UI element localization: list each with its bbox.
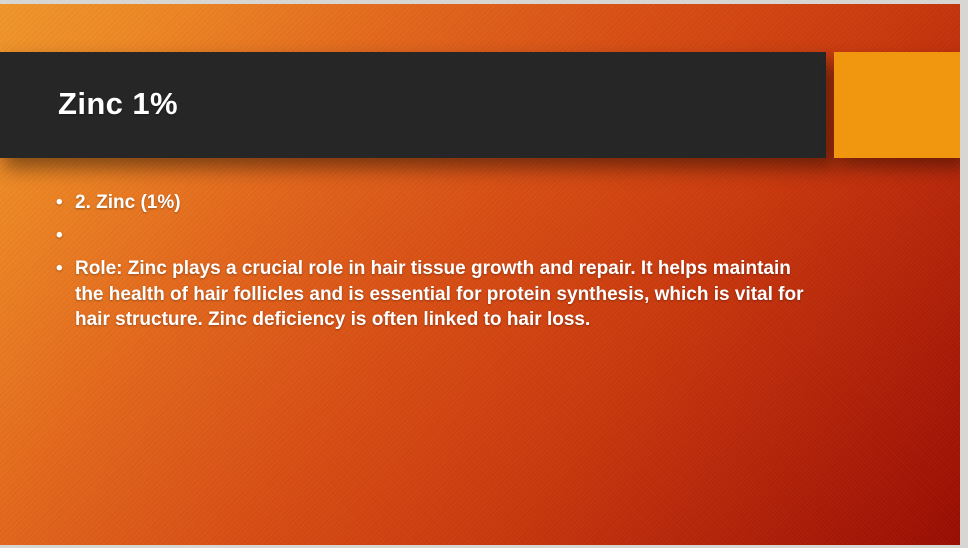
title-band: Zinc 1% (0, 52, 826, 158)
bullet-icon: • (56, 190, 75, 216)
list-item: • (56, 223, 846, 249)
accent-block (834, 52, 960, 158)
bullet-icon: • (56, 223, 75, 249)
list-item: • 2. Zinc (1%) (56, 190, 846, 216)
list-item-text: 2. Zinc (1%) (75, 190, 846, 216)
page-title: Zinc 1% (58, 86, 178, 122)
list-item-text: Role: Zinc plays a crucial role in hair … (75, 256, 817, 333)
slide-canvas: Zinc 1% • 2. Zinc (1%) • • Role: Zinc pl… (0, 4, 960, 545)
presentation-slide: Zinc 1% • 2. Zinc (1%) • • Role: Zinc pl… (0, 0, 968, 548)
slide-body: • 2. Zinc (1%) • • Role: Zinc plays a cr… (56, 190, 846, 340)
list-item: • Role: Zinc plays a crucial role in hai… (56, 256, 846, 333)
bullet-icon: • (56, 256, 75, 282)
